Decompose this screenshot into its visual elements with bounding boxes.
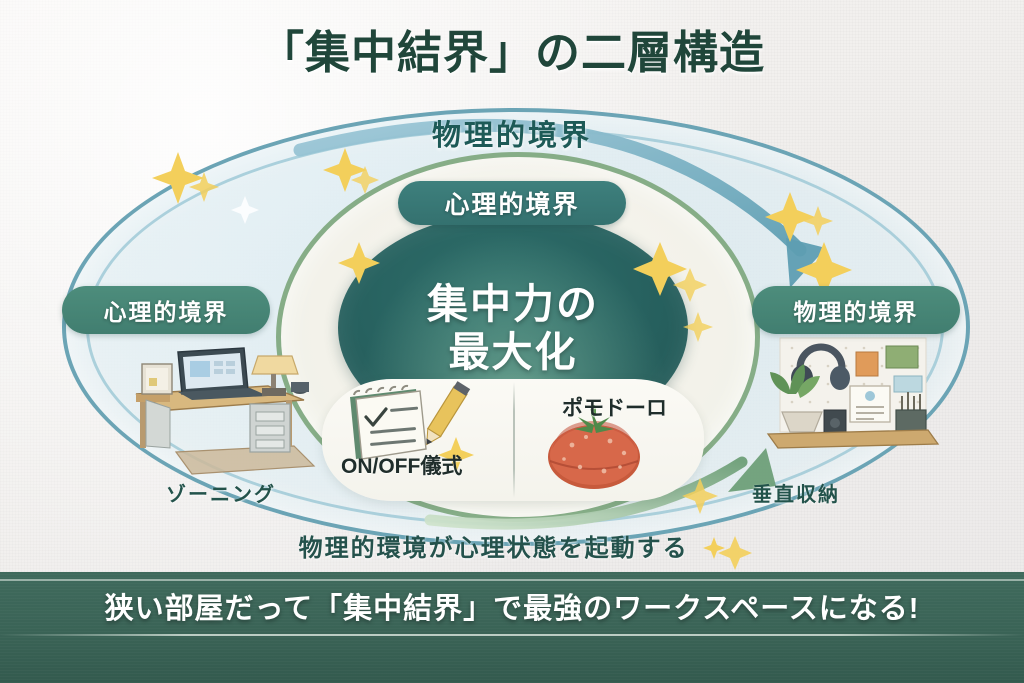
sparkle-icon xyxy=(703,537,725,559)
left-pill-psychological-boundary: 心理的境界 xyxy=(62,286,270,334)
core-label-line1: 集中力の xyxy=(427,280,599,328)
notepad-pencil-icon xyxy=(330,379,510,501)
banner-rule-bottom xyxy=(0,634,1024,636)
left-caption-zoning: ゾーニング xyxy=(166,478,276,507)
right-caption-vertical-storage: 垂直収納 xyxy=(752,478,840,507)
method-card-pomodoro-label: ポモドーロ xyxy=(562,392,667,422)
infographic-canvas: 「集中結界」の二層構造 xyxy=(0,0,1024,683)
card-divider xyxy=(513,382,515,498)
outer-ring-label: 物理的境界 xyxy=(0,112,1024,154)
sub-caption: 物理的環境が心理状態を起動する xyxy=(0,528,1024,563)
page-title: 「集中結界」の二層構造 xyxy=(0,16,1024,81)
right-pill-physical-boundary: 物理的境界 xyxy=(752,286,960,334)
banner-rule-top xyxy=(0,579,1024,581)
desk-illustration xyxy=(118,334,326,476)
core-label-line2: 最大化 xyxy=(449,328,578,376)
desk-illustration-svg xyxy=(118,334,326,476)
method-card-onoff-label: ON/OFF儀式 xyxy=(341,450,462,480)
method-card-onoff xyxy=(330,379,510,501)
shelf-illustration xyxy=(752,334,948,476)
sub-caption-text: 物理的環境が心理状態を起動する xyxy=(299,535,689,562)
shelf-illustration-svg xyxy=(752,334,948,476)
banner-text: 狭い部屋だって「集中結界」で最強のワークスペースになる! xyxy=(0,585,1024,627)
